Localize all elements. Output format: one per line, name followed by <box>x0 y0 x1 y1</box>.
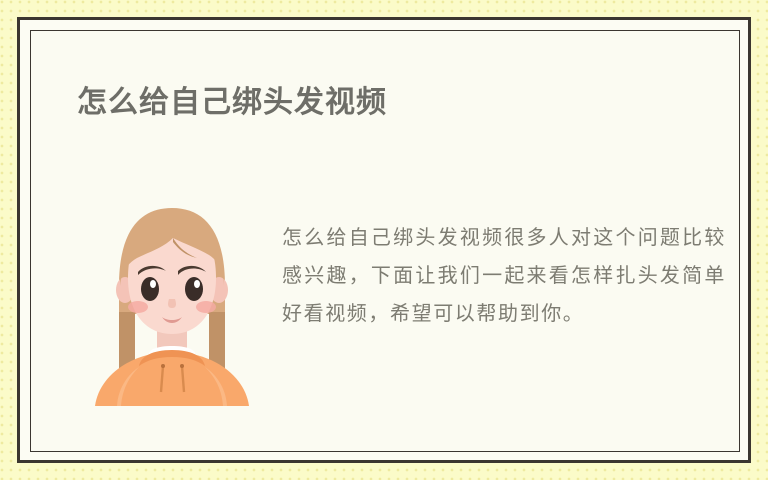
card-inner-frame: 怎么给自己绑头发视频 <box>30 30 740 452</box>
page-title: 怎么给自己绑头发视频 <box>77 83 387 123</box>
card-outer-frame: 怎么给自己绑头发视频 <box>17 17 751 463</box>
page-canvas: 怎么给自己绑头发视频 <box>0 0 768 480</box>
article-content-row: 怎么给自己绑头发视频很多人对这个问题比较感兴趣，下面让我们一起来看怎样扎头发简单… <box>31 181 739 421</box>
girl-avatar-icon <box>87 194 257 406</box>
girl-avatar-illustration <box>87 194 257 406</box>
article-body-text: 怎么给自己绑头发视频很多人对这个问题比较感兴趣，下面让我们一起来看怎样扎头发简单… <box>282 219 726 333</box>
